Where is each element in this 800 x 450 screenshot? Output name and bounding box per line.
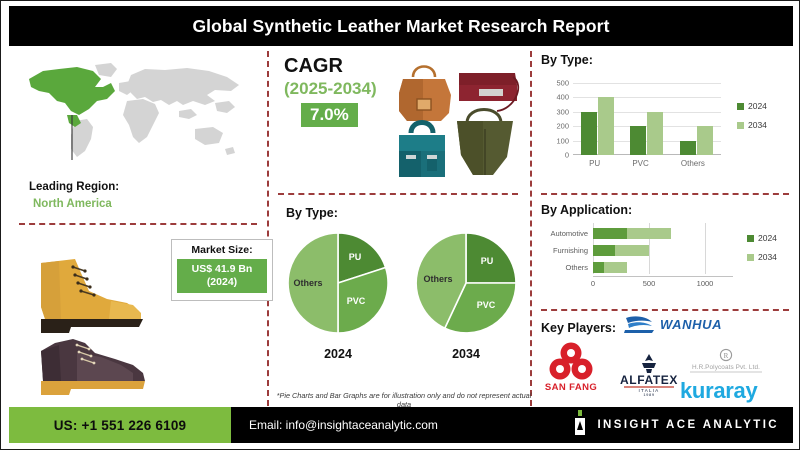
y-tick-100: 100 (556, 136, 569, 145)
app-legend-label-2024: 2024 (758, 233, 777, 243)
page-title: Global Synthetic Leather Market Research… (192, 16, 609, 37)
market-size-value: US$ 41.9 Bn (2024) (177, 259, 267, 293)
handbags-illustration (393, 51, 521, 183)
pie-2024-label-pu: PU (349, 252, 362, 262)
seg-others-2024 (593, 262, 604, 273)
bar-chart-x-labels: PU PVC Others (573, 159, 721, 168)
bar-group-pvc (630, 83, 663, 155)
divider-vertical-left (267, 51, 269, 406)
key-players-logos: WANHUA SAN FANG ALFATEX ITALIA (536, 314, 794, 406)
shoes-illustration (15, 233, 175, 405)
row-label-automotive: Automotive (550, 229, 588, 238)
row-label-furnishing: Furnishing (553, 246, 588, 255)
divider-horizontal-right-top (541, 193, 789, 195)
bar-pu-2024 (581, 112, 597, 155)
market-size-label: Market Size: (177, 244, 267, 256)
footer-contact-area: Email: info@insightaceanalytic.com INSIG… (231, 407, 793, 443)
app-legend-label-2034: 2034 (758, 252, 777, 262)
y-tick-400: 400 (556, 93, 569, 102)
application-bar-rows: Automotive Furnishing Others (593, 225, 733, 276)
seg-others-2034 (604, 262, 626, 273)
leading-region-label: Leading Region: (29, 181, 119, 193)
alfatex-wordmark: ALFATEX (620, 373, 678, 387)
footer-phone: US: +1 551 226 6109 (9, 407, 231, 443)
wanhua-wordmark: WANHUA (660, 317, 722, 332)
x-tick-1000: 1000 (697, 279, 714, 288)
pie-chart-2034: PU PVC Others 2034 (412, 229, 520, 361)
market-size-value-line2: (2024) (179, 276, 265, 289)
legend-swatch-2034 (737, 122, 744, 129)
cagr-years: (2025-2034) (284, 79, 377, 99)
pie-2024-year: 2024 (284, 347, 392, 361)
san-fang-wordmark: SAN FANG (545, 382, 597, 393)
bar-groups (573, 83, 721, 155)
bar-row-furnishing: Furnishing (593, 242, 733, 259)
divider-horizontal-center (278, 193, 518, 195)
bar-group-pu (581, 83, 614, 155)
cagr-title: CAGR (284, 55, 343, 78)
app-legend-item-2034: 2034 (747, 252, 777, 262)
hr-r-mark: R (724, 352, 729, 360)
legend-swatch-2024 (737, 103, 744, 110)
san-fang-logo: SAN FANG (538, 340, 604, 394)
application-axis-line (593, 276, 733, 277)
by-application-heading: By Application: (541, 203, 632, 217)
pie-chart-2024: PU PVC Others 2024 (284, 229, 392, 361)
pie-2034-year: 2034 (412, 347, 520, 361)
by-type-pie-heading: By Type: (286, 206, 338, 220)
by-type-bar-heading: By Type: (541, 53, 593, 67)
header-bar: Global Synthetic Leather Market Research… (9, 6, 793, 46)
footer-bar: US: +1 551 226 6109 Email: info@insighta… (9, 407, 793, 443)
market-size-value-line1: US$ 41.9 Bn (179, 263, 265, 276)
insight-ace-mark (572, 410, 588, 441)
legend-item-2024: 2024 (737, 101, 767, 111)
pie-2034-label-pvc: PVC (477, 300, 496, 310)
bar-row-others: Others (593, 259, 733, 276)
hr-polycoats-wordmark: H.R.Polycoats Pvt. Ltd. (692, 364, 760, 371)
pie-2034-label-others: Others (423, 274, 452, 284)
y-tick-200: 200 (556, 122, 569, 131)
x-tick-0: 0 (591, 279, 595, 288)
y-tick-500: 500 (556, 79, 569, 88)
legend-label-2024: 2024 (748, 101, 767, 111)
x-label-others: Others (681, 159, 705, 168)
by-type-bar-chart: 500 400 300 200 100 0 (541, 79, 791, 179)
app-legend-swatch-2024 (747, 235, 754, 242)
by-application-chart: Automotive Furnishing Others (541, 223, 793, 303)
market-size-card: Market Size: US$ 41.9 Bn (2024) (171, 239, 273, 301)
divider-horizontal-right-bottom (541, 309, 789, 311)
app-legend-item-2024: 2024 (747, 233, 777, 243)
bar-pvc-2034 (647, 112, 663, 155)
infographic-page: Global Synthetic Leather Market Research… (0, 0, 800, 450)
alfatex-logo: ALFATEX ITALIA 1989 (618, 352, 680, 396)
divider-vertical-right (530, 51, 532, 406)
app-legend-swatch-2034 (747, 254, 754, 261)
pie-2024-label-others: Others (293, 278, 322, 288)
bar-pvc-2024 (630, 126, 646, 155)
kuraray-wordmark: kuraray (680, 378, 758, 403)
kuraray-logo: kuraray (678, 376, 782, 404)
y-tick-0: 0 (565, 151, 569, 160)
y-tick-300: 300 (556, 107, 569, 116)
bar-others-2034 (697, 126, 713, 155)
bar-row-automotive: Automotive (593, 225, 733, 242)
wanhua-logo: WANHUA (624, 314, 736, 334)
bar-others-2024 (680, 141, 696, 155)
legend-item-2034: 2034 (737, 120, 767, 130)
world-map (19, 57, 254, 167)
application-legend: 2024 2034 (747, 233, 777, 262)
divider-horizontal-left (19, 223, 257, 225)
x-label-pu: PU (589, 159, 600, 168)
pie-2034-label-pu: PU (481, 256, 494, 266)
bar-chart-legend: 2024 2034 (737, 101, 767, 130)
bar-pu-2034 (598, 97, 614, 155)
seg-furnishing-2034 (615, 245, 649, 256)
seg-furnishing-2024 (593, 245, 615, 256)
leading-region-value: North America (33, 198, 112, 210)
by-type-pie-charts: PU PVC Others 2024 PU PVC Others 2034 (284, 229, 530, 389)
x-label-pvc: PVC (632, 159, 648, 168)
cagr-value: 7.0% (301, 103, 358, 127)
pie-2024-label-pvc: PVC (347, 296, 366, 306)
bar-group-others (680, 83, 713, 155)
seg-automotive-2034 (627, 228, 672, 239)
footer-brand-name: INSIGHT ACE ANALYTIC (597, 419, 779, 431)
row-label-others: Others (565, 263, 588, 272)
footer-email: Email: info@insightaceanalytic.com (249, 418, 438, 432)
alfatex-year: 1989 (643, 392, 654, 396)
hr-polycoats-logo: R H.R.Polycoats Pvt. Ltd. (684, 348, 768, 376)
footer-brand: INSIGHT ACE ANALYTIC (572, 410, 779, 441)
legend-label-2034: 2034 (748, 120, 767, 130)
seg-automotive-2024 (593, 228, 627, 239)
bar-chart-plot: 500 400 300 200 100 0 (573, 83, 721, 155)
x-tick-500: 500 (643, 279, 656, 288)
